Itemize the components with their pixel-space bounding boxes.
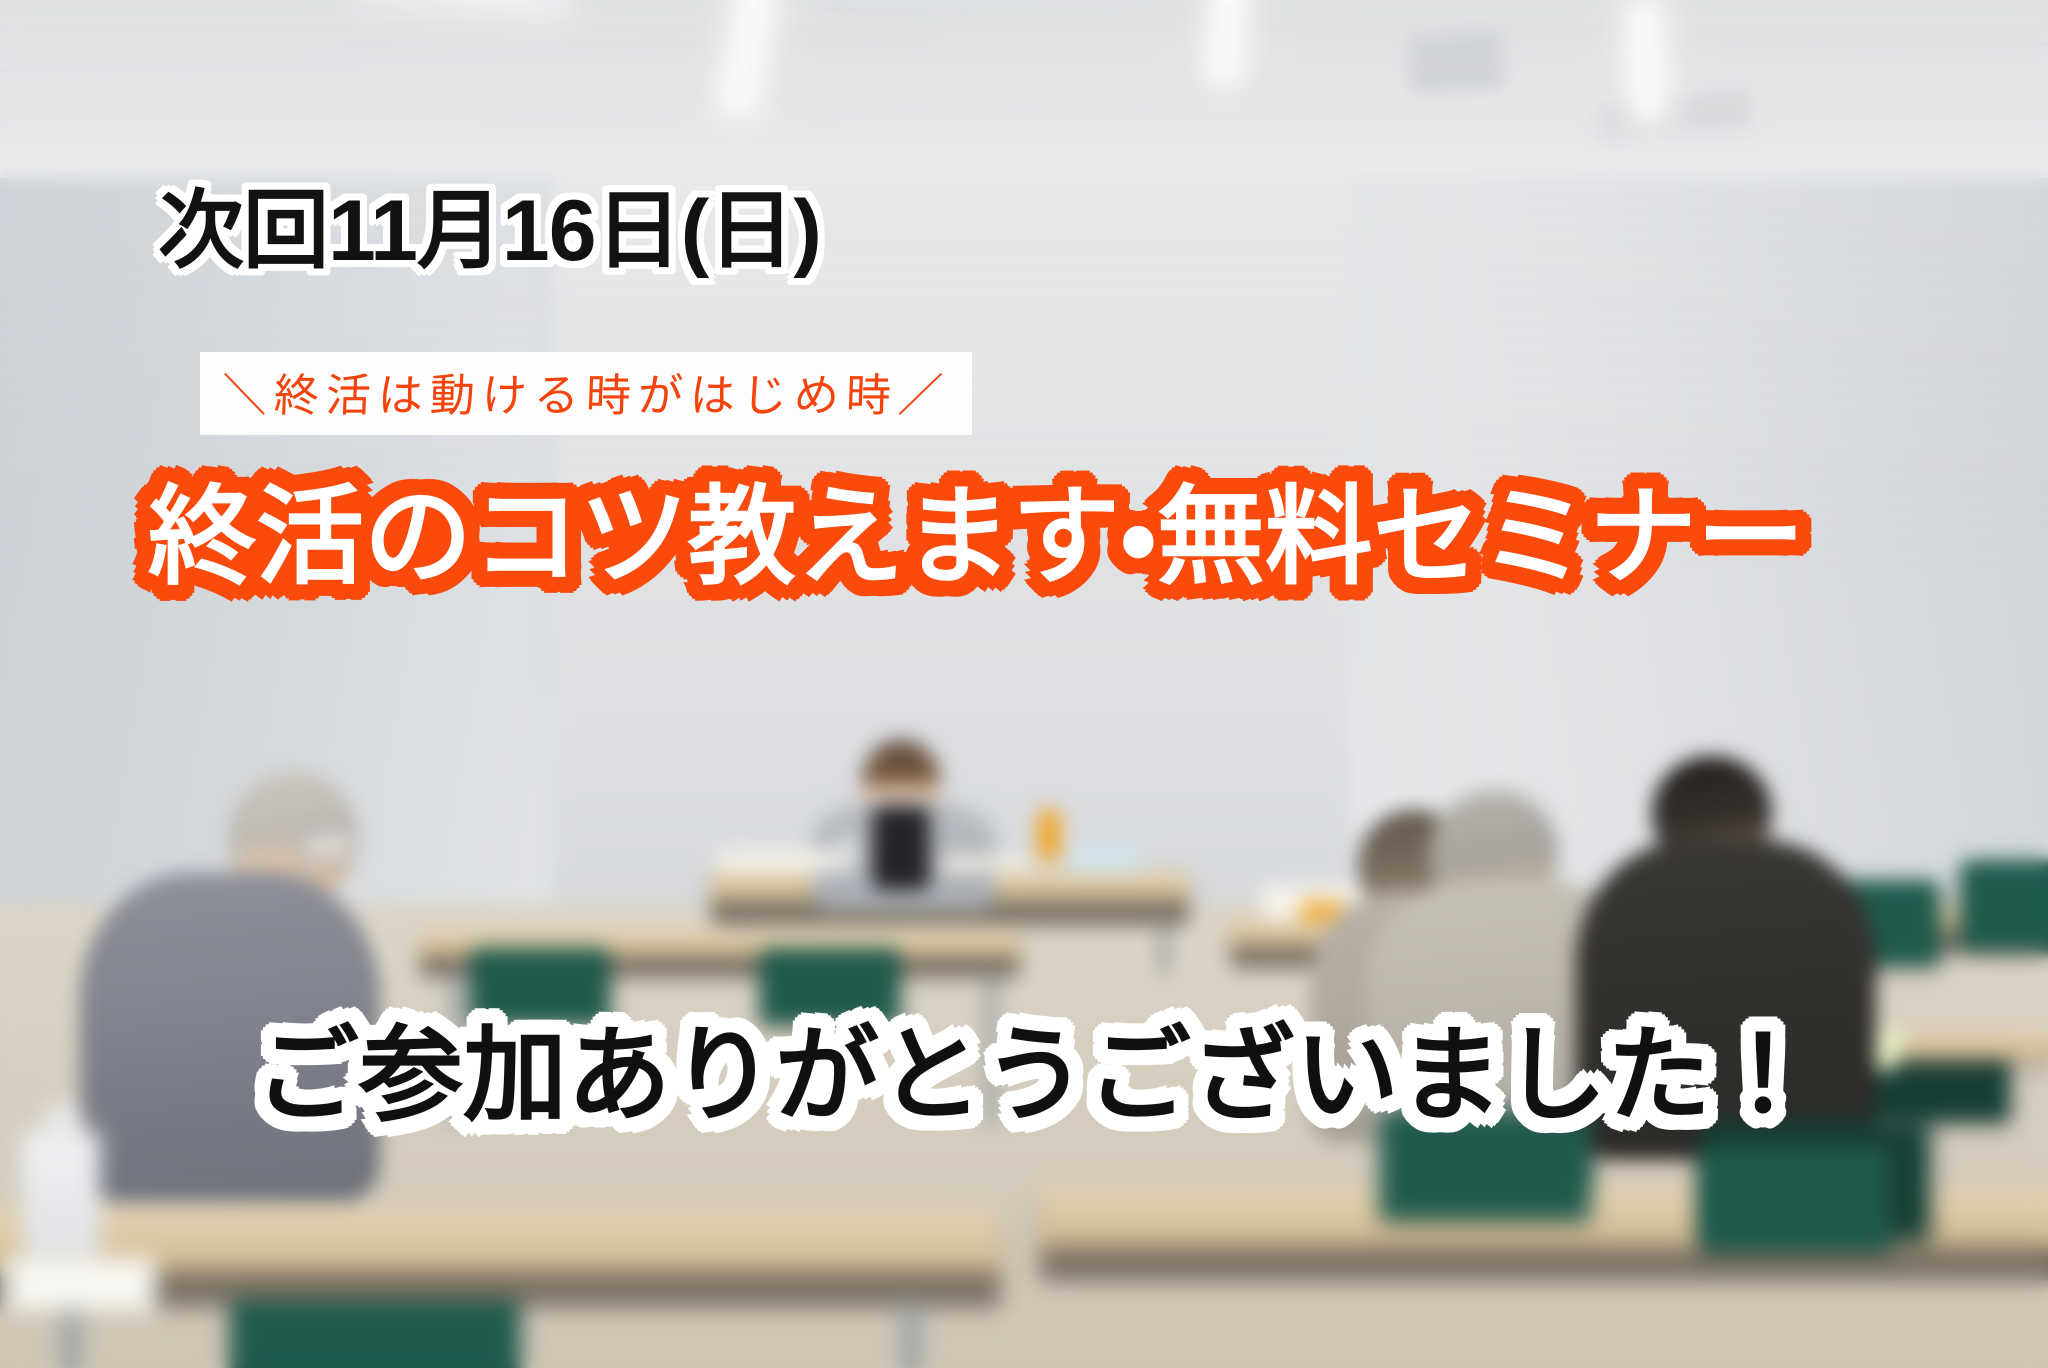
thanks-message: ご参加ありがとうございました！ (255, 990, 1815, 1141)
next-session-date: 次回11月16日(日) (158, 160, 821, 285)
page-title: 終活のコツ教えます・無料セミナー (148, 450, 1805, 606)
tagline-band: ＼終活は動ける時がはじめ時／ (200, 352, 972, 435)
seminar-poster: 次回11月16日(日) ＼終活は動ける時がはじめ時／ 終活のコツ教えます・無料セ… (0, 0, 2048, 1368)
tagline-text: ＼終活は動ける時がはじめ時／ (221, 359, 951, 424)
